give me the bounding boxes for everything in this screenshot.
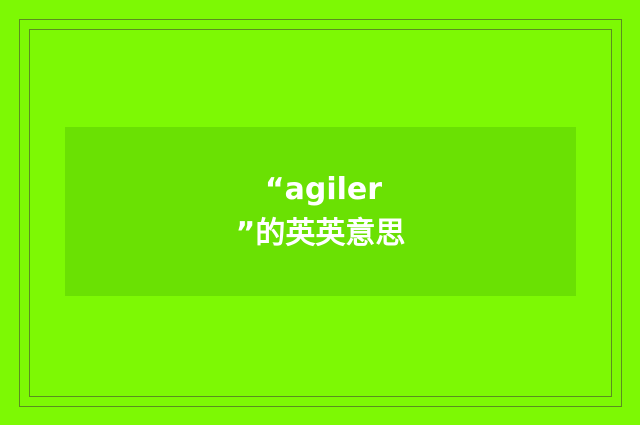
title-banner-band: “agiler ”的英英意思 <box>65 127 576 296</box>
title-line-2: ”的英英意思 <box>236 219 406 249</box>
title-line-1: “agiler <box>259 175 382 205</box>
banner-canvas: “agiler ”的英英意思 <box>0 0 640 425</box>
